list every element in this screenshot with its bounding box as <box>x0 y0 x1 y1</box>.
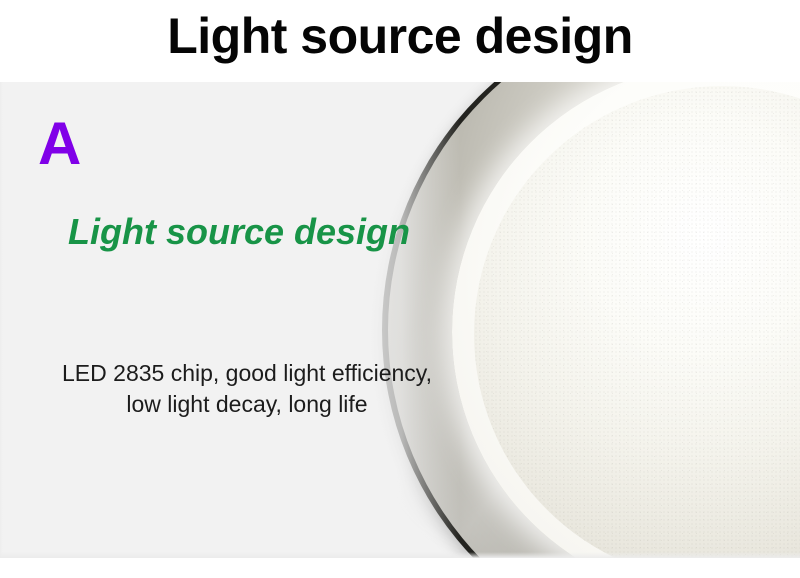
page-title: Light source design <box>0 4 800 68</box>
slide-canvas: Light source design A Light source desig… <box>0 0 800 578</box>
feature-marker-letter: A <box>38 112 81 176</box>
feature-description-line-2: low light decay, long life <box>12 389 482 420</box>
title-band: Light source design <box>0 0 800 82</box>
bottom-band <box>0 558 800 578</box>
panel-left-seam <box>0 82 3 558</box>
content-panel <box>0 82 800 558</box>
feature-subtitle: Light source design <box>68 210 410 254</box>
feature-description: LED 2835 chip, good light efficiency, lo… <box>12 358 482 420</box>
feature-description-line-1: LED 2835 chip, good light efficiency, <box>12 358 482 389</box>
product-photo <box>0 82 800 558</box>
